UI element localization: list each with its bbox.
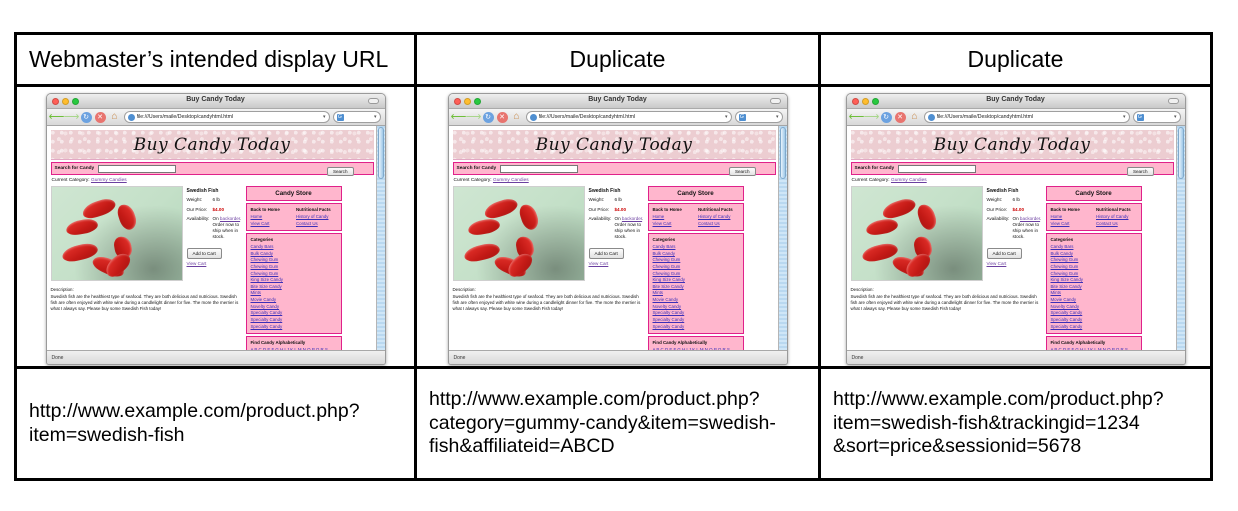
home-icon[interactable]: ⌂ bbox=[109, 112, 121, 123]
sidebar-nav-col-2: Nutritional Facts History of Candy Conta… bbox=[296, 207, 337, 227]
sidebar-category-link[interactable]: Candy Bars bbox=[251, 244, 337, 251]
product-details: Swedish Fish Weight: 6 lb Our Price: $4.… bbox=[987, 186, 1043, 281]
sidebar-nav-box: Back to Home Home View Cart Nutritional … bbox=[648, 203, 744, 231]
availability-label: Availability: bbox=[987, 216, 1013, 239]
table-screenshot-row: Buy Candy Today ⟵ ⟶ ↻ ✕ ⌂ file:///Users/… bbox=[16, 86, 1212, 368]
table-header-row: Webmaster’s intended display URL Duplica… bbox=[16, 34, 1212, 86]
product-row: Swedish Fish Weight: 6 lb Our Price: $4.… bbox=[453, 186, 645, 281]
screenshot-cell-2: Buy Candy Today ⟵ ⟶ ↻ ✕ ⌂ file:///Users/… bbox=[416, 86, 820, 368]
sidebar-link-home[interactable]: Home bbox=[653, 214, 694, 221]
browser-toolbar: ⟵ ⟶ ↻ ✕ ⌂ file:///Users/maile/Desktop/ca… bbox=[847, 109, 1185, 126]
site-sidebar: Candy Store Back to Home Home View Cart … bbox=[246, 186, 342, 350]
toolbar-toggle-icon[interactable] bbox=[368, 98, 379, 104]
header-label-duplicate-1: Duplicate bbox=[417, 47, 818, 72]
google-search-icon: G bbox=[337, 114, 344, 121]
product-row: Swedish Fish Weight: 6 lb Our Price: $4.… bbox=[51, 186, 243, 281]
sidebar-category-link[interactable]: Specialty Candy bbox=[653, 317, 739, 324]
sidebar-title-box: Candy Store bbox=[246, 186, 342, 201]
globe-icon bbox=[928, 114, 935, 121]
sidebar-category-link[interactable]: Specialty Candy bbox=[251, 310, 337, 317]
table-url-row: http://www.example.com/product.php? item… bbox=[16, 368, 1212, 480]
sidebar-nav-box: Back to Home Home View Cart Nutritional … bbox=[246, 203, 342, 231]
url-text-duplicate-2: http://www.example.com/product.php? item… bbox=[821, 382, 1210, 465]
site-body: Swedish Fish Weight: 6 lb Our Price: $4.… bbox=[851, 186, 1174, 350]
back-arrow-icon[interactable]: ⟵ bbox=[851, 112, 863, 123]
current-category-label: Current Category: bbox=[852, 178, 890, 183]
product-row: Swedish Fish Weight: 6 lb Our Price: $4.… bbox=[851, 186, 1043, 281]
weight-value: 6 lb bbox=[1013, 197, 1043, 203]
alphabet-row-1[interactable]: A B C D E F G H I J K L M N O P Q R S bbox=[251, 347, 337, 350]
alphabet-links-1[interactable]: A B C D E F G H I J K L M N O P Q R S bbox=[251, 347, 328, 350]
sidebar-categories-head: Categories bbox=[653, 237, 739, 242]
candy-fish-shape bbox=[915, 202, 938, 232]
weight-label: Weight: bbox=[187, 197, 213, 203]
google-search-icon: G bbox=[1137, 114, 1144, 121]
sidebar-category-link[interactable]: Bulk Candy bbox=[1051, 251, 1137, 258]
description-title: Description: bbox=[453, 287, 645, 293]
globe-icon bbox=[128, 114, 135, 121]
product-weight-row: Weight: 6 lb bbox=[589, 197, 645, 203]
site-search-button[interactable]: Search bbox=[327, 167, 354, 176]
product-description: Description: Swedish fish are the health… bbox=[51, 287, 243, 312]
sidebar-link-home[interactable]: Home bbox=[1051, 214, 1092, 221]
sidebar-category-link[interactable]: Movie Candy bbox=[1051, 297, 1137, 304]
view-cart-link[interactable]: View Cart bbox=[187, 261, 243, 266]
address-bar-url: file:///Users/maile/Desktop/candyhtml.ht… bbox=[539, 114, 636, 120]
browser-toolbar: ⟵ ⟶ ↻ ✕ ⌂ file:///Users/maile/Desktop/ca… bbox=[449, 109, 787, 126]
sidebar-categories-box: Categories Candy BarsBulk CandyChewing G… bbox=[648, 233, 744, 334]
home-icon[interactable]: ⌂ bbox=[511, 112, 523, 123]
vertical-scrollbar[interactable] bbox=[1176, 126, 1185, 350]
site-search-bar: Search for Candy Search bbox=[453, 162, 776, 175]
sidebar-nav-box: Back to Home Home View Cart Nutritional … bbox=[1046, 203, 1142, 231]
sidebar-category-link[interactable]: Bite Size Candy bbox=[251, 284, 337, 291]
page-content: Buy Candy Today Search for Candy Search … bbox=[847, 126, 1176, 350]
chevron-down-icon[interactable]: ▾ bbox=[1174, 114, 1177, 120]
alphabet-row-1[interactable]: A B C D E F G H I J K L M N O P Q R S bbox=[653, 347, 739, 350]
sidebar-nav-col-1: Back to Home Home View Cart bbox=[653, 207, 694, 227]
chevron-down-icon[interactable]: ▾ bbox=[1123, 114, 1126, 120]
sidebar-category-link[interactable]: Mints bbox=[1051, 290, 1137, 297]
vertical-scrollbar[interactable] bbox=[376, 126, 385, 350]
sidebar-category-link[interactable]: Novelty Candy bbox=[653, 304, 739, 311]
current-category-link[interactable]: Gummy Candies bbox=[493, 178, 529, 183]
site-sidebar: Candy Store Back to Home Home View Cart … bbox=[648, 186, 744, 350]
toolbar-toggle-icon[interactable] bbox=[770, 98, 781, 104]
alphabet-row-1[interactable]: A B C D E F G H I J K L M N O P Q R S bbox=[1051, 347, 1137, 350]
sidebar-alphabet-box: Find Candy Alphabetically A B C D E F G … bbox=[1046, 336, 1142, 350]
sidebar-category-link[interactable]: Candy Bars bbox=[1051, 244, 1137, 251]
sidebar-nav-col-1: Back to Home Home View Cart bbox=[1051, 207, 1092, 227]
screenshot-root: Webmaster’s intended display URL Duplica… bbox=[0, 0, 1238, 511]
sidebar-nav-head-2: Nutritional Facts bbox=[698, 207, 739, 212]
description-body: Swedish fish are the healthiest type of … bbox=[453, 294, 645, 312]
site-main-column: Swedish Fish Weight: 6 lb Our Price: $4.… bbox=[453, 186, 645, 350]
candy-fish-shape bbox=[517, 202, 540, 232]
url-comparison-table: Webmaster’s intended display URL Duplica… bbox=[14, 32, 1213, 481]
sidebar-category-link[interactable]: Bulk Candy bbox=[653, 251, 739, 258]
product-name: Swedish Fish bbox=[987, 188, 1043, 194]
sidebar-alphabet-box: Find Candy Alphabetically A B C D E F G … bbox=[246, 336, 342, 350]
address-bar-url: file:///Users/maile/Desktop/candyhtml.ht… bbox=[137, 114, 234, 120]
price-value: $4.00 bbox=[615, 207, 645, 213]
availability-prefix: On bbox=[615, 216, 622, 221]
sidebar-category-link[interactable]: Bulk Candy bbox=[251, 251, 337, 258]
sidebar-category-link[interactable]: Specialty Candy bbox=[1051, 317, 1137, 324]
forward-arrow-icon[interactable]: ⟶ bbox=[66, 112, 78, 123]
product-price-row: Our Price: $4.00 bbox=[187, 207, 243, 213]
sidebar-category-link[interactable]: King Size Candy bbox=[653, 277, 739, 284]
browser-statusbar: Done bbox=[847, 350, 1185, 364]
sidebar-nav-col-2: Nutritional Facts History of Candy Conta… bbox=[698, 207, 739, 227]
product-availability-row: Availability: On backorder. Order now to… bbox=[589, 216, 645, 239]
browser-window: Buy Candy Today ⟵ ⟶ ↻ ✕ ⌂ file:///Users/… bbox=[46, 93, 386, 365]
sidebar-title-box: Candy Store bbox=[1046, 186, 1142, 201]
current-category-label: Current Category: bbox=[52, 178, 90, 183]
site-search-label: Search for Candy bbox=[457, 166, 497, 171]
product-image bbox=[851, 186, 983, 281]
header-label-duplicate-2: Duplicate bbox=[821, 47, 1210, 72]
sidebar-category-link[interactable]: Chewing Gum bbox=[1051, 271, 1137, 278]
sidebar-link-history[interactable]: History of Candy bbox=[1096, 214, 1137, 221]
current-category-link[interactable]: Gummy Candies bbox=[891, 178, 927, 183]
candy-fish-shape bbox=[115, 202, 138, 232]
toolbar-toggle-icon[interactable] bbox=[1168, 98, 1179, 104]
backorder-link[interactable]: backorder bbox=[220, 216, 240, 221]
backorder-link[interactable]: backorder bbox=[1020, 216, 1040, 221]
site-banner-title: Buy Candy Today bbox=[134, 135, 291, 155]
weight-value: 6 lb bbox=[615, 197, 645, 203]
product-image bbox=[51, 186, 183, 281]
site-search-label: Search for Candy bbox=[855, 166, 895, 171]
availability-value: On backorder. Order now to ship when in … bbox=[213, 216, 243, 239]
url-cell-1: http://www.example.com/product.php? item… bbox=[16, 368, 416, 480]
site-search-input[interactable] bbox=[898, 165, 976, 173]
product-price-row: Our Price: $4.00 bbox=[987, 207, 1043, 213]
sidebar-category-link[interactable]: Chewing Gum bbox=[251, 257, 337, 264]
browser-statusbar: Done bbox=[47, 350, 385, 364]
forward-arrow-icon[interactable]: ⟶ bbox=[866, 112, 878, 123]
view-cart-link[interactable]: View Cart bbox=[987, 261, 1043, 266]
stop-icon[interactable]: ✕ bbox=[95, 112, 106, 123]
screenshot-cell-1: Buy Candy Today ⟵ ⟶ ↻ ✕ ⌂ file:///Users/… bbox=[16, 86, 416, 368]
add-to-cart-button[interactable]: Add to Cart bbox=[589, 248, 624, 259]
product-availability-row: Availability: On backorder. Order now to… bbox=[987, 216, 1043, 239]
chevron-down-icon[interactable]: ▾ bbox=[725, 114, 728, 120]
sidebar-category-link[interactable]: King Size Candy bbox=[251, 277, 337, 284]
sidebar-category-link[interactable]: Movie Candy bbox=[251, 297, 337, 304]
header-label-intended: Webmaster’s intended display URL bbox=[17, 47, 414, 72]
stop-icon[interactable]: ✕ bbox=[895, 112, 906, 123]
address-bar[interactable]: file:///Users/maile/Desktop/candyhtml.ht… bbox=[124, 111, 330, 123]
site-main-column: Swedish Fish Weight: 6 lb Our Price: $4.… bbox=[851, 186, 1043, 350]
price-label: Our Price: bbox=[987, 207, 1013, 213]
status-text: Done bbox=[52, 355, 64, 361]
product-name: Swedish Fish bbox=[589, 188, 645, 194]
description-title: Description: bbox=[851, 287, 1043, 293]
scrollbar-thumb[interactable] bbox=[378, 127, 384, 179]
address-bar-url: file:///Users/maile/Desktop/candyhtml.ht… bbox=[937, 114, 1034, 120]
candy-fish-shape bbox=[65, 217, 99, 236]
scrollbar-thumb[interactable] bbox=[780, 127, 786, 179]
sidebar-nav-head-2: Nutritional Facts bbox=[296, 207, 337, 212]
sidebar-categories-box: Categories Candy BarsBulk CandyChewing G… bbox=[1046, 233, 1142, 334]
alphabet-links-1[interactable]: A B C D E F G H I J K L M N O P Q R S bbox=[653, 347, 730, 350]
sidebar-category-link[interactable]: Specialty Candy bbox=[1051, 324, 1137, 331]
candy-fish-shape bbox=[467, 217, 501, 236]
alphabet-links-1[interactable]: A B C D E F G H I J K L M N O P Q R S bbox=[1051, 347, 1128, 350]
page-viewport: Buy Candy Today Search for Candy Search … bbox=[47, 126, 385, 350]
availability-prefix: On bbox=[213, 216, 220, 221]
candy-fish-shape bbox=[482, 196, 519, 221]
site-search-input[interactable] bbox=[98, 165, 176, 173]
site-search-button[interactable]: Search bbox=[1127, 167, 1154, 176]
header-cell-duplicate-1: Duplicate bbox=[416, 34, 820, 86]
sidebar-nav-head-1: Back to Home bbox=[653, 207, 694, 212]
browser-window-title: Buy Candy Today bbox=[47, 96, 385, 103]
product-availability-row: Availability: On backorder. Order now to… bbox=[187, 216, 243, 239]
browser-toolbar: ⟵ ⟶ ↻ ✕ ⌂ file:///Users/maile/Desktop/ca… bbox=[47, 109, 385, 126]
site-search-label: Search for Candy bbox=[55, 166, 95, 171]
sidebar-category-link[interactable]: Bite Size Candy bbox=[653, 284, 739, 291]
sidebar-nav-head-1: Back to Home bbox=[1051, 207, 1092, 212]
availability-value: On backorder. Order now to ship when in … bbox=[1013, 216, 1043, 239]
browser-titlebar: Buy Candy Today bbox=[47, 94, 385, 109]
browser-search-input[interactable]: G ▾ bbox=[333, 111, 381, 123]
site-banner-title: Buy Candy Today bbox=[536, 135, 693, 155]
browser-titlebar: Buy Candy Today bbox=[449, 94, 787, 109]
address-bar[interactable]: file:///Users/maile/Desktop/candyhtml.ht… bbox=[924, 111, 1130, 123]
back-arrow-icon[interactable]: ⟵ bbox=[51, 112, 63, 123]
sidebar-link-view-cart[interactable]: View Cart bbox=[251, 221, 292, 228]
candy-fish-shape bbox=[865, 217, 899, 236]
sidebar-category-link[interactable]: Specialty Candy bbox=[653, 324, 739, 331]
chevron-down-icon[interactable]: ▾ bbox=[323, 114, 326, 120]
sidebar-category-link[interactable]: Specialty Candy bbox=[653, 310, 739, 317]
status-text: Done bbox=[454, 355, 466, 361]
sidebar-category-link[interactable]: Mints bbox=[251, 290, 337, 297]
back-arrow-icon[interactable]: ⟵ bbox=[453, 112, 465, 123]
sidebar-title: Candy Store bbox=[1047, 187, 1141, 200]
add-to-cart-button[interactable]: Add to Cart bbox=[187, 248, 222, 259]
product-price-row: Our Price: $4.00 bbox=[589, 207, 645, 213]
sidebar-title: Candy Store bbox=[649, 187, 743, 200]
sidebar-nav-head-1: Back to Home bbox=[251, 207, 292, 212]
sidebar-nav-col-1: Back to Home Home View Cart bbox=[251, 207, 292, 227]
globe-icon bbox=[530, 114, 537, 121]
price-value: $4.00 bbox=[213, 207, 243, 213]
browser-statusbar: Done bbox=[449, 350, 787, 364]
browser-window-title: Buy Candy Today bbox=[449, 96, 787, 103]
status-text: Done bbox=[852, 355, 864, 361]
browser-window: Buy Candy Today ⟵ ⟶ ↻ ✕ ⌂ file:///Users/… bbox=[846, 93, 1186, 365]
sidebar-category-link[interactable]: Chewing Gum bbox=[1051, 264, 1137, 271]
description-body: Swedish fish are the healthiest type of … bbox=[851, 294, 1043, 312]
sidebar-category-link[interactable]: Chewing Gum bbox=[653, 264, 739, 271]
page-viewport: Buy Candy Today Search for Candy Search … bbox=[847, 126, 1185, 350]
product-weight-row: Weight: 6 lb bbox=[987, 197, 1043, 203]
sidebar-link-home[interactable]: Home bbox=[251, 214, 292, 221]
current-category: Current Category: Gummy Candies bbox=[454, 178, 778, 183]
sidebar-category-link[interactable]: Novelty Candy bbox=[251, 304, 337, 311]
sidebar-category-link[interactable]: Chewing Gum bbox=[1051, 257, 1137, 264]
site-search-input[interactable] bbox=[500, 165, 578, 173]
availability-label: Availability: bbox=[589, 216, 615, 239]
product-description: Description: Swedish fish are the health… bbox=[453, 287, 645, 312]
page-content: Buy Candy Today Search for Candy Search … bbox=[449, 126, 778, 350]
chevron-down-icon[interactable]: ▾ bbox=[374, 114, 377, 120]
stop-icon[interactable]: ✕ bbox=[497, 112, 508, 123]
vertical-scrollbar[interactable] bbox=[778, 126, 787, 350]
current-category: Current Category: Gummy Candies bbox=[852, 178, 1176, 183]
site-sidebar: Candy Store Back to Home Home View Cart … bbox=[1046, 186, 1142, 350]
page-viewport: Buy Candy Today Search for Candy Search … bbox=[449, 126, 787, 350]
product-name: Swedish Fish bbox=[187, 188, 243, 194]
sidebar-category-link[interactable]: Chewing Gum bbox=[251, 264, 337, 271]
sidebar-link-contact[interactable]: Contact Us bbox=[1096, 221, 1137, 228]
sidebar-category-link[interactable]: King Size Candy bbox=[1051, 277, 1137, 284]
current-category-link[interactable]: Gummy Candies bbox=[91, 178, 127, 183]
product-details: Swedish Fish Weight: 6 lb Our Price: $4.… bbox=[589, 186, 645, 281]
url-cell-3: http://www.example.com/product.php? item… bbox=[820, 368, 1212, 480]
sidebar-link-history[interactable]: History of Candy bbox=[698, 214, 739, 221]
sidebar-link-view-cart[interactable]: View Cart bbox=[1051, 221, 1092, 228]
site-search-button[interactable]: Search bbox=[729, 167, 756, 176]
reload-icon[interactable]: ↻ bbox=[881, 112, 892, 123]
current-category-label: Current Category: bbox=[454, 178, 492, 183]
sidebar-categories-head: Categories bbox=[1051, 237, 1137, 242]
reload-icon[interactable]: ↻ bbox=[483, 112, 494, 123]
site-search-bar: Search for Candy Search bbox=[51, 162, 374, 175]
browser-window: Buy Candy Today ⟵ ⟶ ↻ ✕ ⌂ file:///Users/… bbox=[448, 93, 788, 365]
url-text-duplicate-1: http://www.example.com/product.php? cate… bbox=[417, 382, 818, 465]
sidebar-category-link[interactable]: Movie Candy bbox=[653, 297, 739, 304]
site-banner: Buy Candy Today bbox=[51, 130, 374, 160]
sidebar-category-link[interactable]: Mints bbox=[653, 290, 739, 297]
site-banner-title: Buy Candy Today bbox=[934, 135, 1091, 155]
add-to-cart-button[interactable]: Add to Cart bbox=[987, 248, 1022, 259]
sidebar-link-history[interactable]: History of Candy bbox=[296, 214, 337, 221]
page-content: Buy Candy Today Search for Candy Search … bbox=[47, 126, 376, 350]
product-details: Swedish Fish Weight: 6 lb Our Price: $4.… bbox=[187, 186, 243, 281]
browser-search-input[interactable]: G ▾ bbox=[1133, 111, 1181, 123]
sidebar-category-link[interactable]: Chewing Gum bbox=[653, 271, 739, 278]
sidebar-nav-head-2: Nutritional Facts bbox=[1096, 207, 1137, 212]
address-bar[interactable]: file:///Users/maile/Desktop/candyhtml.ht… bbox=[526, 111, 732, 123]
current-category: Current Category: Gummy Candies bbox=[52, 178, 376, 183]
sidebar-categories-head: Categories bbox=[251, 237, 337, 242]
weight-label: Weight: bbox=[987, 197, 1013, 203]
sidebar-link-contact[interactable]: Contact Us bbox=[296, 221, 337, 228]
url-cell-2: http://www.example.com/product.php? cate… bbox=[416, 368, 820, 480]
candy-fish-shape bbox=[880, 196, 917, 221]
google-search-icon: G bbox=[739, 114, 746, 121]
sidebar-categories-box: Categories Candy BarsBulk CandyChewing G… bbox=[246, 233, 342, 334]
price-value: $4.00 bbox=[1013, 207, 1043, 213]
product-description: Description: Swedish fish are the health… bbox=[851, 287, 1043, 312]
header-cell-duplicate-2: Duplicate bbox=[820, 34, 1212, 86]
browser-titlebar: Buy Candy Today bbox=[847, 94, 1185, 109]
availability-label: Availability: bbox=[187, 216, 213, 239]
url-text-intended: http://www.example.com/product.php? item… bbox=[17, 394, 414, 454]
price-label: Our Price: bbox=[187, 207, 213, 213]
sidebar-alphabet-head: Find Candy Alphabetically bbox=[1051, 340, 1137, 345]
sidebar-category-link[interactable]: Specialty Candy bbox=[251, 317, 337, 324]
sidebar-alphabet-head: Find Candy Alphabetically bbox=[251, 340, 337, 345]
site-search-bar: Search for Candy Search bbox=[851, 162, 1174, 175]
site-body: Swedish Fish Weight: 6 lb Our Price: $4.… bbox=[453, 186, 776, 350]
availability-value: On backorder. Order now to ship when in … bbox=[615, 216, 645, 239]
weight-label: Weight: bbox=[589, 197, 615, 203]
product-image bbox=[453, 186, 585, 281]
site-banner: Buy Candy Today bbox=[453, 130, 776, 160]
sidebar-category-link[interactable]: Bite Size Candy bbox=[1051, 284, 1137, 291]
sidebar-category-link[interactable]: Specialty Candy bbox=[251, 324, 337, 331]
sidebar-category-link[interactable]: Novelty Candy bbox=[1051, 304, 1137, 311]
site-banner: Buy Candy Today bbox=[851, 130, 1174, 160]
view-cart-link[interactable]: View Cart bbox=[589, 261, 645, 266]
weight-value: 6 lb bbox=[213, 197, 243, 203]
forward-arrow-icon[interactable]: ⟶ bbox=[468, 112, 480, 123]
sidebar-category-link[interactable]: Specialty Candy bbox=[1051, 310, 1137, 317]
header-cell-intended: Webmaster’s intended display URL bbox=[16, 34, 416, 86]
sidebar-title: Candy Store bbox=[247, 187, 341, 200]
product-weight-row: Weight: 6 lb bbox=[187, 197, 243, 203]
sidebar-category-link[interactable]: Chewing Gum bbox=[653, 257, 739, 264]
chevron-down-icon[interactable]: ▾ bbox=[776, 114, 779, 120]
price-label: Our Price: bbox=[589, 207, 615, 213]
site-body: Swedish Fish Weight: 6 lb Our Price: $4.… bbox=[51, 186, 374, 350]
browser-search-input[interactable]: G ▾ bbox=[735, 111, 783, 123]
sidebar-link-view-cart[interactable]: View Cart bbox=[653, 221, 694, 228]
description-title: Description: bbox=[51, 287, 243, 293]
sidebar-category-link[interactable]: Candy Bars bbox=[653, 244, 739, 251]
screenshot-cell-3: Buy Candy Today ⟵ ⟶ ↻ ✕ ⌂ file:///Users/… bbox=[820, 86, 1212, 368]
sidebar-category-link[interactable]: Chewing Gum bbox=[251, 271, 337, 278]
backorder-link[interactable]: backorder bbox=[622, 216, 642, 221]
sidebar-link-contact[interactable]: Contact Us bbox=[698, 221, 739, 228]
candy-fish-shape bbox=[80, 196, 117, 221]
site-main-column: Swedish Fish Weight: 6 lb Our Price: $4.… bbox=[51, 186, 243, 350]
home-icon[interactable]: ⌂ bbox=[909, 112, 921, 123]
browser-window-title: Buy Candy Today bbox=[847, 96, 1185, 103]
sidebar-nav-col-2: Nutritional Facts History of Candy Conta… bbox=[1096, 207, 1137, 227]
sidebar-title-box: Candy Store bbox=[648, 186, 744, 201]
sidebar-alphabet-box: Find Candy Alphabetically A B C D E F G … bbox=[648, 336, 744, 350]
scrollbar-thumb[interactable] bbox=[1178, 127, 1184, 179]
description-body: Swedish fish are the healthiest type of … bbox=[51, 294, 243, 312]
reload-icon[interactable]: ↻ bbox=[81, 112, 92, 123]
availability-prefix: On bbox=[1013, 216, 1020, 221]
sidebar-alphabet-head: Find Candy Alphabetically bbox=[653, 340, 739, 345]
